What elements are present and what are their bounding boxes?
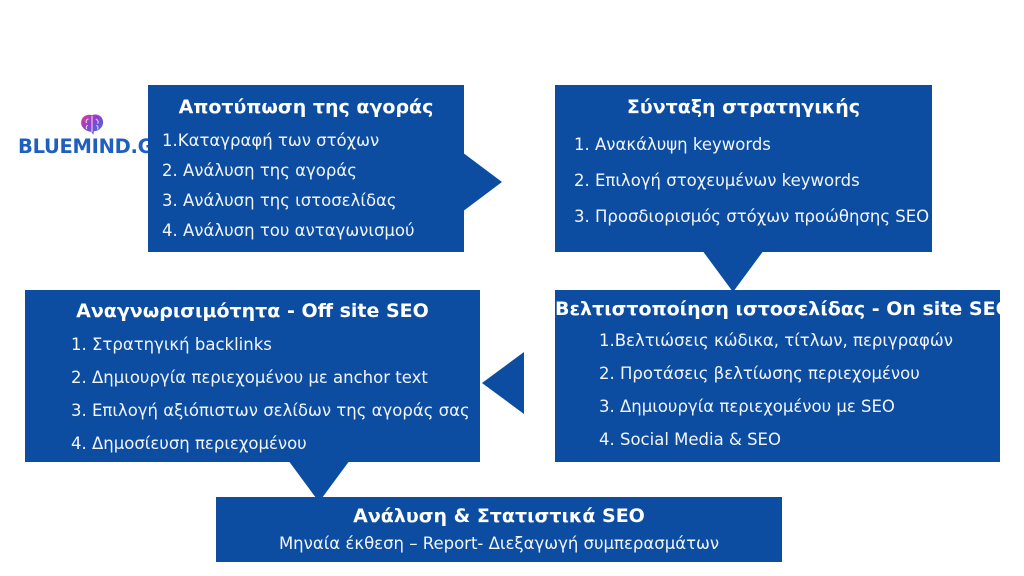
flow-box-offsite-seo[interactable]: Αναγνωρισιμότητα - Off site SEO 1. Στρατ… bbox=[25, 290, 480, 462]
list-item: 1.Βελτιώσεις κώδικα, τίτλων, περιγραφών bbox=[599, 331, 1000, 350]
list-item: 2. Ανάλυση της αγοράς bbox=[162, 161, 464, 180]
flow-box-offsite-seo-list: 1. Στρατηγική backlinks 2. Δημιουργία πε… bbox=[25, 335, 480, 453]
list-item: 2. Επιλογή στοχευμένων keywords bbox=[574, 171, 932, 190]
flow-box-onsite-seo-title: Βελτιστοποίηση ιστοσελίδας - On site SEO bbox=[555, 299, 1000, 321]
list-item: 1. Ανακάλυψη keywords bbox=[574, 135, 932, 154]
brain-icon bbox=[79, 114, 105, 136]
flow-box-onsite-seo[interactable]: Βελτιστοποίηση ιστοσελίδας - On site SEO… bbox=[555, 290, 1000, 462]
arrow-down-icon bbox=[288, 460, 350, 502]
list-item: 3. Προσδιορισμός στόχων προώθησης SEO bbox=[574, 207, 932, 226]
list-item: 4. Social Media & SEO bbox=[599, 430, 1000, 449]
arrow-left-icon bbox=[482, 352, 524, 414]
flow-box-market[interactable]: Αποτύπωση της αγοράς 1.Καταγραφή των στό… bbox=[148, 85, 464, 252]
list-item: 1.Καταγραφή των στόχων bbox=[162, 131, 464, 150]
list-item: 2. Δημιουργία περιεχομένου με anchor tex… bbox=[71, 368, 480, 387]
flow-box-onsite-seo-list: 1.Βελτιώσεις κώδικα, τίτλων, περιγραφών … bbox=[555, 331, 1000, 449]
arrow-right-icon bbox=[462, 152, 502, 212]
list-item: 1. Στρατηγική backlinks bbox=[71, 335, 480, 354]
flow-box-market-list: 1.Καταγραφή των στόχων 2. Ανάλυση της αγ… bbox=[148, 131, 464, 240]
list-item: 3. Επιλογή αξιόπιστων σελίδων της αγοράς… bbox=[71, 401, 480, 420]
flow-box-offsite-seo-title: Αναγνωρισιμότητα - Off site SEO bbox=[25, 301, 480, 323]
flow-box-analytics-title: Ανάλυση & Στατιστικά SEO bbox=[353, 506, 645, 528]
flow-box-market-title: Αποτύπωση της αγοράς bbox=[148, 97, 464, 119]
arrow-down-icon bbox=[702, 250, 764, 292]
flow-box-analytics-subtitle: Μηναία έκθεση – Report- Διεξαγωγή συμπερ… bbox=[279, 534, 719, 553]
flow-box-analytics[interactable]: Ανάλυση & Στατιστικά SEO Μηναία έκθεση –… bbox=[216, 497, 782, 562]
flow-box-strategy-list: 1. Ανακάλυψη keywords 2. Επιλογή στοχευμ… bbox=[555, 135, 932, 226]
list-item: 2. Προτάσεις βελτίωσης περιεχομένου bbox=[599, 364, 1000, 383]
flow-box-strategy[interactable]: Σύνταξη στρατηγικής 1. Ανακάλυψη keyword… bbox=[555, 85, 932, 252]
flow-box-strategy-title: Σύνταξη στρατηγικής bbox=[555, 97, 932, 119]
bluemind-logo: BLUEMIND.GR bbox=[18, 112, 148, 174]
list-item: 3. Ανάλυση της ιστοσελίδας bbox=[162, 191, 464, 210]
logo-wordmark: BLUEMIND.GR bbox=[18, 135, 148, 158]
list-item: 3. Δημιουργία περιεχομένου με SEO bbox=[599, 397, 1000, 416]
diagram-canvas: BLUEMIND.GR Αποτύπωση της αγοράς 1.Καταγ… bbox=[0, 0, 1024, 576]
list-item: 4. Ανάλυση του ανταγωνισμού bbox=[162, 221, 464, 240]
list-item: 4. Δημοσίευση περιεχομένου bbox=[71, 434, 480, 453]
